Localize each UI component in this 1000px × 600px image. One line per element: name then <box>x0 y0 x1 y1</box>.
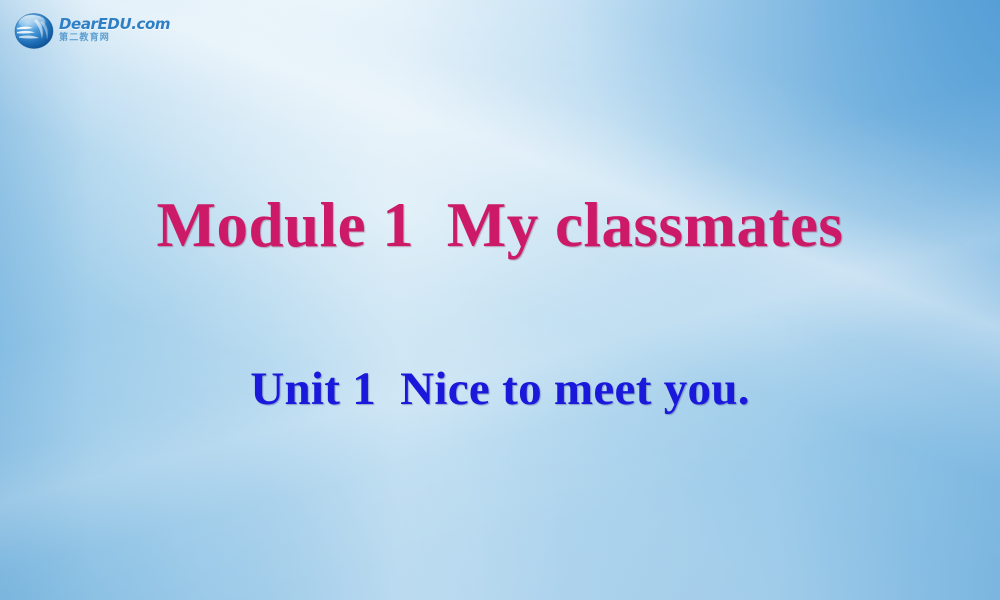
dearedu-globe-icon <box>12 9 56 53</box>
background-vertical-gradient <box>0 0 1000 600</box>
logo-wordmark: DearEDU.com 第二教育网 <box>59 17 170 45</box>
background-center-glow <box>0 0 1000 600</box>
background-top-right-glow <box>0 0 1000 600</box>
background-horizontal-gradient <box>0 0 1000 600</box>
background-secondary-streak <box>0 0 1000 600</box>
slide-subtitle: Unit 1 Nice to meet you. <box>0 364 1000 416</box>
presentation-slide: DearEDU.com 第二教育网 Module 1 My classmates… <box>0 0 1000 600</box>
background-bottom-left-glow <box>0 0 1000 600</box>
background-diagonal-light-streak <box>0 0 1000 600</box>
dearedu-logo[interactable]: DearEDU.com 第二教育网 <box>12 8 170 54</box>
slide-title: Module 1 My classmates <box>0 192 1000 259</box>
logo-brand-name: DearEDU.com <box>59 17 170 32</box>
logo-chinese-subtitle: 第二教育网 <box>59 34 170 43</box>
